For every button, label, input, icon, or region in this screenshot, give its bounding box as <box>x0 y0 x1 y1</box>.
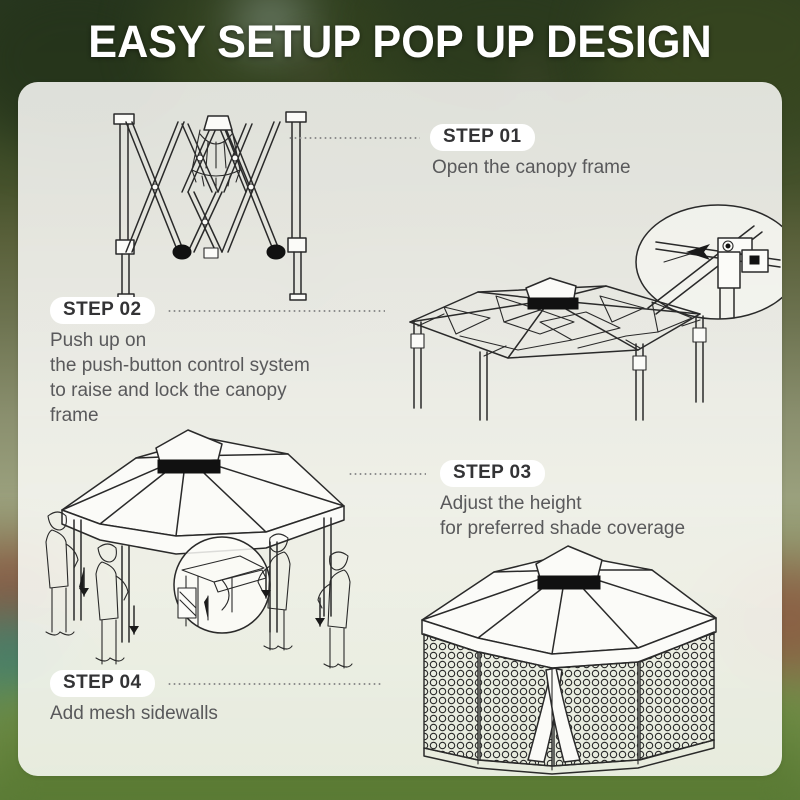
step-03-label-row: STEP 03 <box>348 460 685 487</box>
leader-dots-step-01 <box>288 137 420 139</box>
illustration-canopy-with-people <box>26 420 376 660</box>
content-panel: STEP 01 Open the canopy frame <box>18 82 782 776</box>
step-02: STEP 02 Push up on the push-button contr… <box>50 297 385 428</box>
step-04-label-row: STEP 04 <box>50 670 383 697</box>
leader-dots-step-04 <box>167 683 383 685</box>
step-02-label-row: STEP 02 <box>50 297 385 324</box>
step-01-body: Open the canopy frame <box>432 155 631 180</box>
leader-dots-step-03 <box>348 473 426 475</box>
illustration-gazebo-with-mesh-sidewalls <box>402 534 754 774</box>
step-04: STEP 04 Add mesh sidewalls <box>50 670 383 726</box>
step-02-body: Push up on the push-button control syste… <box>50 328 385 428</box>
step-01: STEP 01 Open the canopy frame <box>288 124 631 180</box>
step-04-body: Add mesh sidewalls <box>50 701 383 726</box>
step-04-label: STEP 04 <box>50 670 155 697</box>
page-title: EASY SETUP POP UP DESIGN <box>16 16 784 68</box>
step-03-label: STEP 03 <box>440 460 545 487</box>
illustration-expanded-canopy-frame <box>400 270 720 420</box>
step-01-label-row: STEP 01 <box>288 124 631 151</box>
step-02-label: STEP 02 <box>50 297 155 324</box>
leader-dots-step-02 <box>167 310 385 312</box>
step-03: STEP 03 Adjust the height for preferred … <box>348 460 685 541</box>
step-01-label: STEP 01 <box>430 124 535 151</box>
